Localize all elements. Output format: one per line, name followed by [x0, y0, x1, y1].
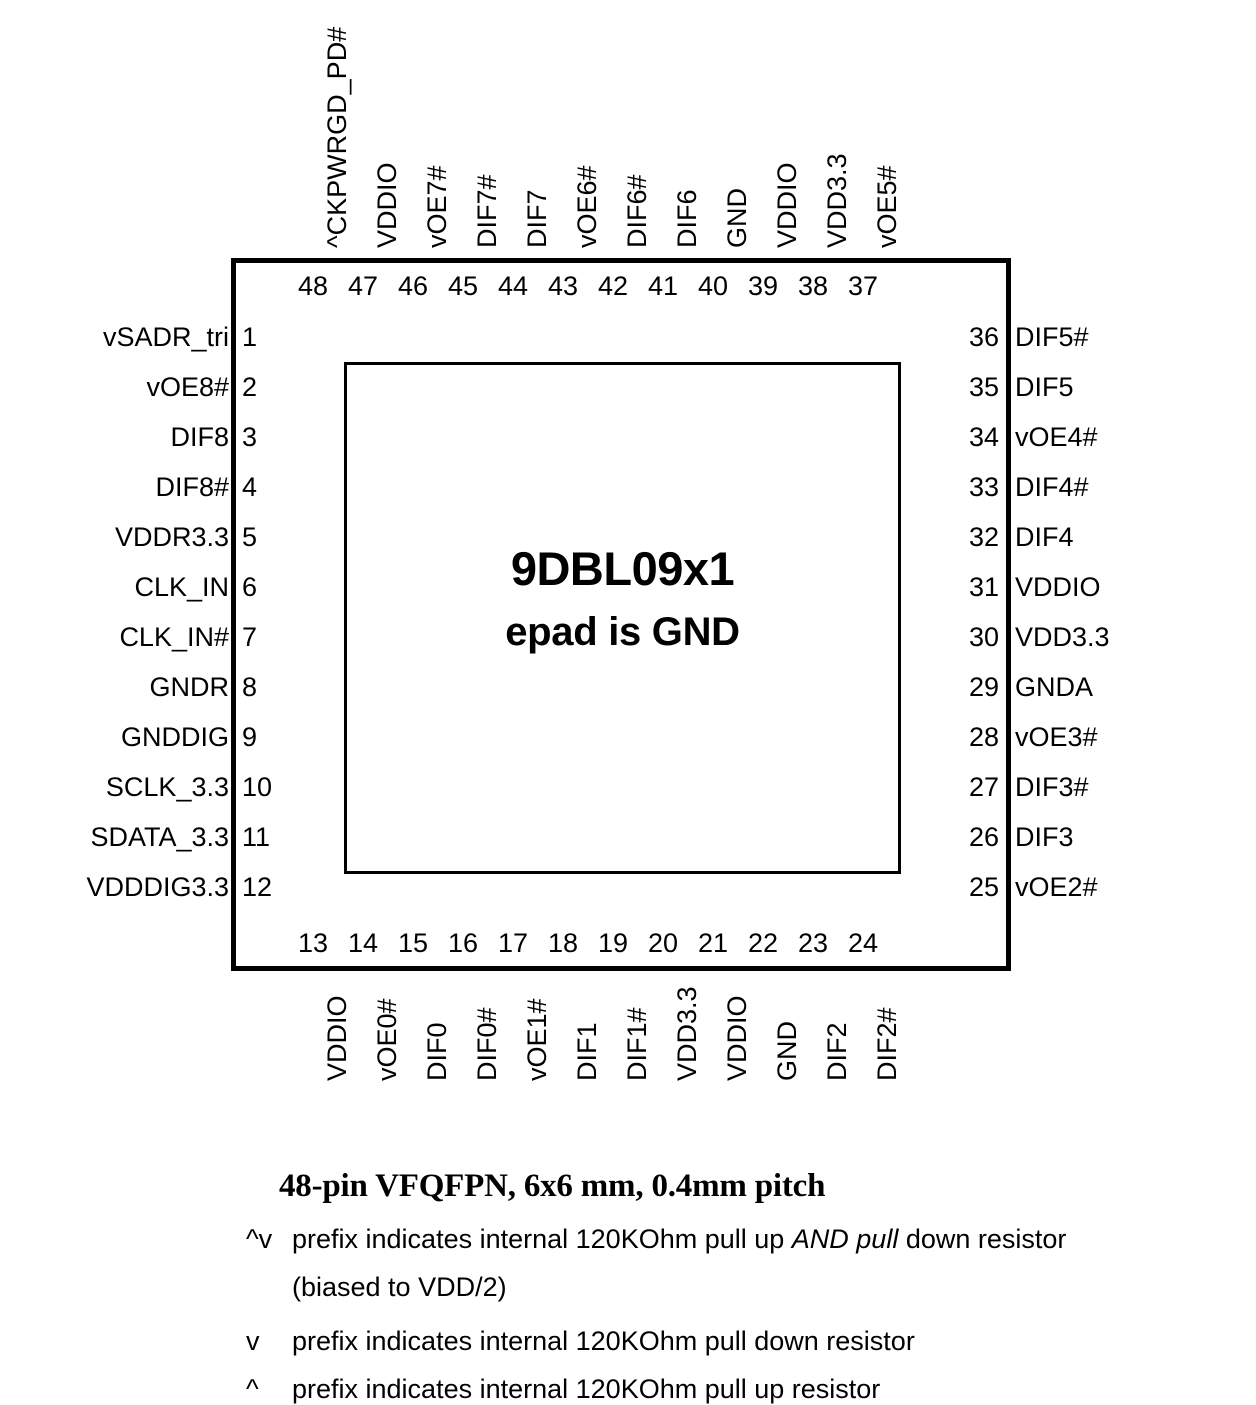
part-number-label: 9DBL09x1 — [344, 540, 901, 599]
pin-name-7: CLK_IN# — [49, 622, 229, 653]
pin-name-label: vOE7# — [422, 165, 453, 248]
pin-name-label: VDDIO — [722, 995, 753, 1081]
pin-number-34: 34 — [953, 422, 999, 453]
pin-number-37: 37 — [838, 271, 888, 302]
legend-text: (biased to VDD/2) — [292, 1272, 507, 1303]
pin-number-30: 30 — [953, 622, 999, 653]
pin-name-label: GND — [722, 188, 753, 248]
legend-text: prefix indicates internal 120KOhm pull d… — [292, 1326, 915, 1357]
pin-name-label: DIF0 — [422, 1022, 453, 1081]
pin-name-label: GND — [772, 1021, 803, 1081]
pin-number-22: 22 — [738, 928, 788, 959]
pin-name-4: DIF8# — [49, 472, 229, 503]
pin-number-39: 39 — [738, 271, 788, 302]
pin-name-label: VDDIO — [772, 162, 803, 248]
pin-name-label: DIF7 — [522, 189, 553, 248]
legend-symbol: ^v — [246, 1224, 292, 1255]
legend-text: prefix indicates internal 120KOhm pull u… — [292, 1374, 880, 1405]
pin-name-30: VDD3.3 — [1015, 622, 1110, 653]
pin-number-9: 9 — [242, 722, 288, 753]
pin-number-10: 10 — [242, 772, 288, 803]
pin-number-4: 4 — [242, 472, 288, 503]
pin-name-2: vOE8# — [49, 372, 229, 403]
pin-name-label: DIF6 — [672, 189, 703, 248]
pin-name-label: VDDIO — [372, 162, 403, 248]
pin-name-label: DIF1# — [622, 1007, 653, 1081]
pin-number-41: 41 — [638, 271, 688, 302]
pin-number-45: 45 — [438, 271, 488, 302]
pin-number-38: 38 — [788, 271, 838, 302]
pin-name-3: DIF8 — [49, 422, 229, 453]
pin-name-label: DIF7# — [472, 174, 503, 248]
pin-number-12: 12 — [242, 872, 288, 903]
pin-number-3: 3 — [242, 422, 288, 453]
pin-number-19: 19 — [588, 928, 638, 959]
pin-number-47: 47 — [338, 271, 388, 302]
epad-note-label: epad is GND — [344, 607, 901, 657]
pin-number-23: 23 — [788, 928, 838, 959]
pin-name-36: DIF5# — [1015, 322, 1089, 353]
pin-number-13: 13 — [288, 928, 338, 959]
pin-number-28: 28 — [953, 722, 999, 753]
pin-name-label: DIF1 — [572, 1022, 603, 1081]
pin-name-29: GNDA — [1015, 672, 1093, 703]
pin-number-46: 46 — [388, 271, 438, 302]
pin-name-34: vOE4# — [1015, 422, 1098, 453]
pin-number-48: 48 — [288, 271, 338, 302]
pin-name-label: VDDIO — [322, 995, 353, 1081]
pin-number-24: 24 — [838, 928, 888, 959]
pin-name-10: SCLK_3.3 — [49, 772, 229, 803]
pin-number-5: 5 — [242, 522, 288, 553]
pin-number-27: 27 — [953, 772, 999, 803]
pin-number-26: 26 — [953, 822, 999, 853]
legend-row-bias: (biased to VDD/2) — [292, 1272, 1256, 1303]
pin-name-6: CLK_IN — [49, 572, 229, 603]
pin-number-40: 40 — [688, 271, 738, 302]
pin-number-17: 17 — [488, 928, 538, 959]
pin-name-8: GNDR — [49, 672, 229, 703]
pin-number-16: 16 — [438, 928, 488, 959]
pin-name-32: DIF4 — [1015, 522, 1074, 553]
legend-symbol: v — [246, 1326, 292, 1357]
pin-number-36: 36 — [953, 322, 999, 353]
pin-name-label: vOE0# — [372, 998, 403, 1081]
legend-row-pullup-pulldown: ^v prefix indicates internal 120KOhm pul… — [246, 1224, 1256, 1255]
pin-name-label: VDD3.3 — [672, 986, 703, 1081]
pin-name-label: DIF0# — [472, 1007, 503, 1081]
pin-number-14: 14 — [338, 928, 388, 959]
pin-name-label: DIF6# — [622, 174, 653, 248]
pin-name-27: DIF3# — [1015, 772, 1089, 803]
pin-name-label: ^CKPWRGD_PD# — [322, 27, 353, 248]
pin-number-43: 43 — [538, 271, 588, 302]
legend-symbol: ^ — [246, 1374, 292, 1405]
pin-name-label: DIF2# — [872, 1007, 903, 1081]
part-label-group: 9DBL09x1 epad is GND — [344, 540, 901, 657]
legend-row-pulldown: v prefix indicates internal 120KOhm pull… — [246, 1326, 1256, 1357]
pin-name-label: vOE5# — [872, 165, 903, 248]
pin-number-6: 6 — [242, 572, 288, 603]
pin-name-9: GNDDIG — [49, 722, 229, 753]
pin-number-25: 25 — [953, 872, 999, 903]
pin-name-28: vOE3# — [1015, 722, 1098, 753]
pin-name-25: vOE2# — [1015, 872, 1098, 903]
pin-name-12: VDDDIG3.3 — [49, 872, 229, 903]
pin-name-label: DIF2 — [822, 1022, 853, 1081]
pin-number-31: 31 — [953, 572, 999, 603]
pin-name-1: vSADR_tri — [49, 322, 229, 353]
pin-number-35: 35 — [953, 372, 999, 403]
pin-number-1: 1 — [242, 322, 288, 353]
pin-number-11: 11 — [242, 822, 288, 853]
pin-number-29: 29 — [953, 672, 999, 703]
pin-number-15: 15 — [388, 928, 438, 959]
pin-number-33: 33 — [953, 472, 999, 503]
legend-row-pullup: ^ prefix indicates internal 120KOhm pull… — [246, 1374, 1256, 1405]
pin-name-33: DIF4# — [1015, 472, 1089, 503]
pin-name-11: SDATA_3.3 — [49, 822, 229, 853]
pin-number-8: 8 — [242, 672, 288, 703]
pin-number-2: 2 — [242, 372, 288, 403]
pin-name-26: DIF3 — [1015, 822, 1074, 853]
pin-name-35: DIF5 — [1015, 372, 1074, 403]
pin-name-5: VDDR3.3 — [49, 522, 229, 553]
legend-text: prefix indicates internal 120KOhm pull u… — [292, 1224, 1066, 1255]
pin-number-21: 21 — [688, 928, 738, 959]
package-title: 48-pin VFQFPN, 6x6 mm, 0.4mm pitch — [279, 1168, 825, 1205]
pin-name-label: vOE6# — [572, 165, 603, 248]
pin-name-label: vOE1# — [522, 998, 553, 1081]
pin-number-20: 20 — [638, 928, 688, 959]
pin-name-31: VDDIO — [1015, 572, 1101, 603]
pin-number-18: 18 — [538, 928, 588, 959]
pin-name-label: VDD3.3 — [822, 153, 853, 248]
pin-number-32: 32 — [953, 522, 999, 553]
pin-number-44: 44 — [488, 271, 538, 302]
pin-number-7: 7 — [242, 622, 288, 653]
pin-number-42: 42 — [588, 271, 638, 302]
